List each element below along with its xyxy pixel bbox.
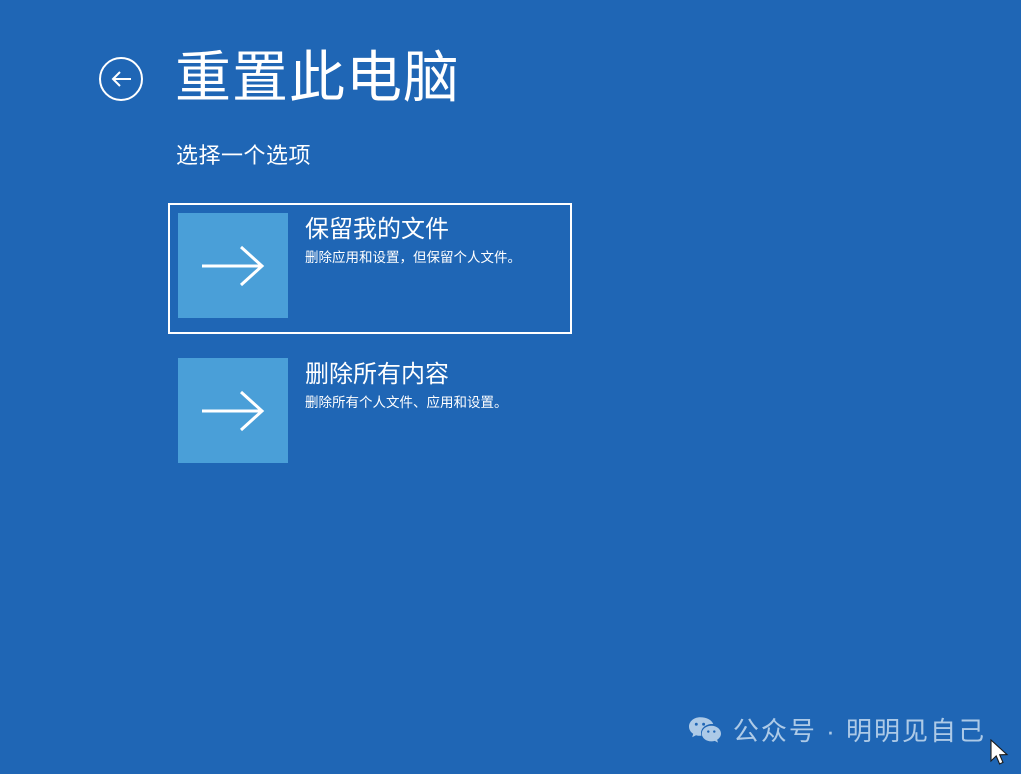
page-subtitle: 选择一个选项 <box>176 142 311 170</box>
option-keep-my-files[interactable]: 保留我的文件 删除应用和设置，但保留个人文件。 <box>168 203 572 334</box>
mouse-pointer-icon <box>990 739 1012 769</box>
page-header: 重置此电脑 选择一个选项 <box>0 0 1021 130</box>
option-title: 保留我的文件 <box>305 214 521 245</box>
option-title: 删除所有内容 <box>305 359 508 390</box>
watermark-text: 公众号 · 明明见自己 <box>733 715 986 747</box>
option-remove-everything[interactable]: 删除所有内容 删除所有个人文件、应用和设置。 <box>168 348 572 473</box>
reset-this-pc-screen: 重置此电脑 选择一个选项 保留我的文件 删除应用和设置，但保留个人文件。 <box>0 0 1021 767</box>
option-description: 删除所有个人文件、应用和设置。 <box>305 393 508 412</box>
watermark: 公众号 · 明明见自己 <box>688 715 986 747</box>
option-description: 删除应用和设置，但保留个人文件。 <box>305 248 521 267</box>
back-arrow-circle-icon[interactable] <box>99 57 143 101</box>
arrow-right-icon <box>178 358 288 463</box>
page-title: 重置此电脑 <box>175 43 460 113</box>
arrow-right-icon <box>178 213 288 318</box>
wechat-icon <box>688 716 722 746</box>
